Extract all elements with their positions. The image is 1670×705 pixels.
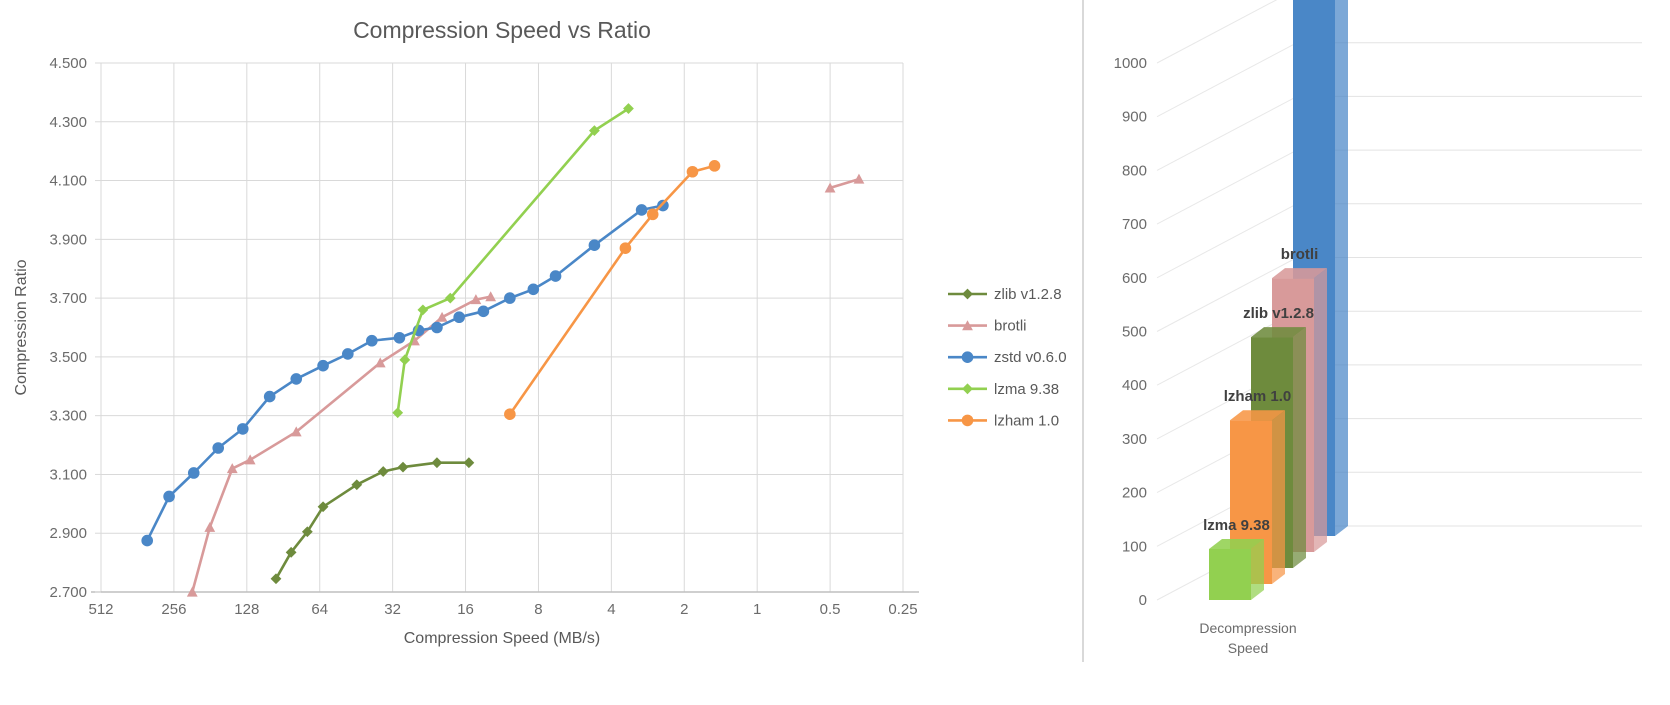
legend[interactable]: zlib v1.2.8brotlizstd v0.6.0lzma 9.38lzh…	[948, 286, 1067, 429]
legend-marker	[962, 383, 973, 394]
bar-side-face	[1314, 268, 1327, 552]
right-y-tick-label: 800	[1122, 162, 1147, 179]
data-point	[437, 312, 448, 322]
x-tick-label: 0.5	[820, 601, 841, 618]
data-point	[188, 467, 200, 479]
x-tick-label: 256	[161, 601, 186, 618]
data-point	[528, 283, 540, 295]
x-tick-label: 32	[384, 601, 401, 618]
right-y-tick-label: 100	[1122, 538, 1147, 555]
data-point	[620, 242, 632, 254]
bar-side-face	[1251, 539, 1264, 600]
right-y-tick-label: 1000	[1114, 55, 1147, 72]
chart-walls	[1157, 0, 1642, 600]
data-point	[342, 348, 354, 360]
legend-label: zstd v0.6.0	[994, 349, 1067, 366]
y-tick-label: 3.500	[49, 349, 87, 366]
series-line	[192, 297, 490, 592]
y-tick-label: 3.700	[49, 290, 87, 307]
bar-value-label: lzma 9.38	[1203, 517, 1270, 534]
y-tick-label: 4.300	[49, 114, 87, 131]
chart-title: Compression Speed vs Ratio	[353, 17, 651, 43]
bar-lzma-9-38[interactable]: lzma 9.38	[1203, 517, 1270, 600]
data-point	[212, 442, 224, 454]
data-point	[432, 457, 443, 468]
right-y-tick-label: 900	[1122, 109, 1147, 126]
bar-value-label: brotli	[1281, 246, 1319, 263]
y-tick-label: 4.500	[49, 55, 87, 72]
bar-value-label: lzham 1.0	[1224, 388, 1292, 405]
right-y-tick-label: 700	[1122, 216, 1147, 233]
category-label-line2: Speed	[1228, 640, 1268, 656]
data-point	[378, 466, 389, 477]
x-tick-label: 16	[457, 601, 474, 618]
data-point	[504, 408, 516, 420]
x-tick-label: 2	[680, 601, 688, 618]
y-tick-label: 3.300	[49, 408, 87, 425]
legend-marker	[962, 351, 974, 363]
data-point	[854, 174, 865, 184]
right-y-tick-label: 300	[1122, 431, 1147, 448]
left-chart-svg[interactable]: Compression Speed vs Ratio2.7002.9003.10…	[0, 0, 1082, 705]
x-tick-label: 64	[311, 601, 328, 618]
data-point	[589, 239, 601, 251]
y-tick-label: 2.900	[49, 525, 87, 542]
category-label-line1: Decompression	[1199, 620, 1296, 636]
data-point	[431, 322, 443, 334]
y-tick-label: 4.100	[49, 173, 87, 190]
right-y-tick-label: 400	[1122, 377, 1147, 394]
legend-item-lzham-1-0[interactable]: lzham 1.0	[948, 412, 1059, 429]
y-tick-label: 3.900	[49, 231, 87, 248]
data-point	[237, 423, 249, 435]
x-tick-label: 1	[753, 601, 761, 618]
x-tick-label: 0.25	[888, 601, 917, 618]
legend-label: lzma 9.38	[994, 381, 1059, 398]
data-point	[398, 462, 409, 473]
legend-label: lzham 1.0	[994, 412, 1059, 429]
decompression-speed-chart[interactable]: 01002003004005006007008009001000zstd v0.…	[1082, 0, 1670, 705]
data-point	[290, 373, 302, 385]
legend-item-zlib-v1-2-8[interactable]: zlib v1.2.8	[948, 286, 1062, 303]
data-point	[394, 332, 406, 344]
right-x-axis-label: DecompressionSpeed	[1199, 620, 1296, 656]
y-tick-label: 3.100	[49, 466, 87, 483]
x-tick-label: 4	[607, 601, 615, 618]
series-group	[141, 103, 864, 596]
data-point	[163, 491, 175, 503]
data-point	[141, 535, 153, 547]
right-y-tick-label: 0	[1139, 592, 1147, 609]
compression-speed-vs-ratio-chart[interactable]: Compression Speed vs Ratio2.7002.9003.10…	[0, 0, 1082, 705]
x-axis-title: Compression Speed (MB/s)	[404, 630, 601, 647]
y-tick-label: 2.700	[49, 584, 87, 601]
gridlines	[101, 63, 903, 592]
x-tick-label: 512	[88, 601, 113, 618]
data-point	[366, 335, 378, 347]
right-y-tick-label: 200	[1122, 485, 1147, 502]
legend-item-lzma-9-38[interactable]: lzma 9.38	[948, 381, 1059, 398]
x-axis-ticks: 51225612864321684210.50.25	[88, 601, 917, 618]
data-point	[264, 391, 276, 403]
x-tick-label: 8	[534, 601, 542, 618]
legend-marker	[962, 415, 974, 427]
right-y-tick-label: 600	[1122, 270, 1147, 287]
bar-front-face	[1209, 549, 1251, 600]
series-lzma-9-38[interactable]	[392, 103, 634, 418]
data-point	[392, 407, 403, 418]
y-axis-title: Compression Ratio	[13, 259, 30, 395]
right-chart-svg[interactable]: 01002003004005006007008009001000zstd v0.…	[1082, 0, 1670, 705]
data-point	[417, 304, 428, 315]
bar-side-face	[1272, 410, 1285, 584]
data-point	[636, 204, 648, 216]
data-point	[453, 311, 465, 323]
data-point	[317, 360, 329, 372]
series-line	[276, 463, 469, 579]
legend-marker	[962, 289, 973, 300]
bar-side-face	[1293, 327, 1306, 568]
series-line	[398, 109, 629, 413]
series-zstd-v0-6-0[interactable]	[141, 200, 668, 547]
data-point	[504, 292, 516, 304]
legend-item-zstd-v0-6-0[interactable]: zstd v0.6.0	[948, 349, 1067, 366]
data-point	[478, 306, 490, 318]
data-point	[709, 160, 721, 172]
data-point	[550, 270, 562, 282]
data-point	[271, 573, 282, 584]
series-zlib-v1-2-8[interactable]	[271, 457, 475, 584]
data-point	[687, 166, 699, 178]
y-axis-ticks: 2.7002.9003.1003.3003.5003.7003.9004.100…	[49, 55, 101, 601]
x-tick-label: 128	[234, 601, 259, 618]
right-y-axis-ticks: 01002003004005006007008009001000	[1114, 55, 1147, 609]
data-point	[204, 522, 215, 532]
screenshot-root: Compression Speed vs Ratio2.7002.9003.10…	[0, 0, 1670, 705]
data-point	[647, 209, 659, 221]
data-point	[399, 354, 410, 365]
legend-item-brotli[interactable]: brotli	[948, 318, 1027, 335]
legend-label: zlib v1.2.8	[994, 286, 1062, 303]
right-y-tick-label: 500	[1122, 324, 1147, 341]
legend-label: brotli	[994, 318, 1027, 335]
bar-side-face	[1335, 0, 1348, 536]
bar-value-label: zlib v1.2.8	[1243, 305, 1314, 322]
